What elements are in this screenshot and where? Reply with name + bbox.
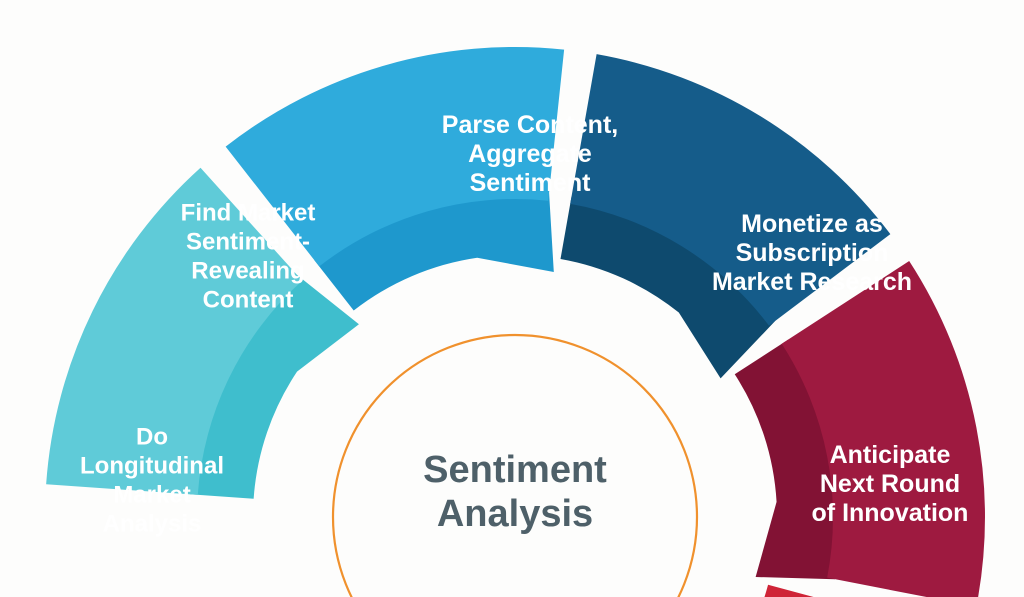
center-title-line2: Analysis (437, 493, 593, 535)
segment-label-line: Monetize as (741, 210, 883, 238)
segment-label-line: Market Research (712, 268, 912, 296)
segment-label-line: Parse Content, (442, 111, 618, 139)
segment-label-line: Find Market (181, 200, 316, 227)
segment-label-line: Content (203, 287, 294, 314)
segment-label-line: Aggregate (468, 140, 592, 168)
segment-label-line: Anticipate (830, 441, 951, 469)
segment-label-line: Market (113, 482, 190, 509)
segment-label-line: Sentiment- (186, 229, 310, 256)
segment-label-line: Do (136, 424, 168, 451)
segment-label-line: Revealing (191, 258, 304, 285)
center-title-line1: Sentiment (423, 449, 607, 491)
segment-label-anticipate-next-round-of-innovation: AnticipateNext Roundof Innovation (812, 441, 969, 527)
segment-label-line: of Innovation (812, 499, 969, 527)
segment-label-line: Longitudinal (80, 453, 224, 480)
segment-arrow-anticipate-next-round-of-innovation (620, 585, 830, 597)
segment-label-line: Next Round (820, 470, 960, 498)
sentiment-analysis-wheel-diagram: Sentiment Analysis Find MarketSentiment-… (0, 0, 1024, 597)
wheel-graphic: Sentiment Analysis Find MarketSentiment-… (0, 0, 1024, 597)
segment-label-line: Sentiment (470, 169, 592, 197)
segment-label-line: Subscription (736, 239, 889, 267)
segment-label-line: Analysis (103, 511, 202, 538)
segment-label-monetize-as-subscription-market-research: Monetize asSubscriptionMarket Research (712, 210, 912, 296)
